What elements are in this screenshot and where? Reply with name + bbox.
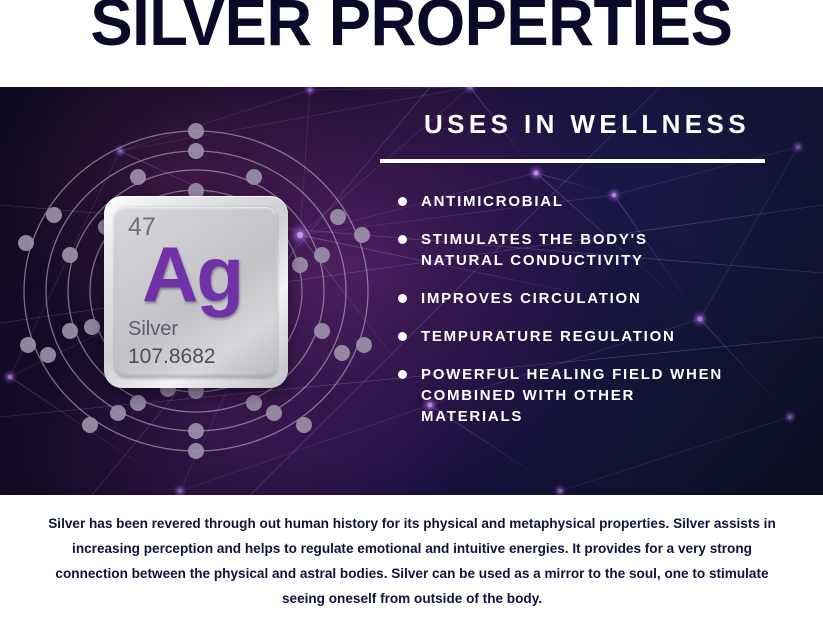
- bullet-icon: [398, 235, 407, 244]
- uses-list: ANTIMICROBIAL STIMULATES THE BODY'S NATU…: [380, 191, 800, 427]
- list-item: STIMULATES THE BODY'S NATURAL CONDUCTIVI…: [380, 229, 800, 271]
- bullet-icon: [398, 294, 407, 303]
- element-symbol: Ag: [115, 235, 269, 313]
- bullet-icon: [398, 370, 407, 379]
- description-paragraph: Silver has been revered through out huma…: [43, 511, 780, 611]
- list-item-label: IMPROVES CIRCULATION: [421, 288, 642, 309]
- infographic-poster: SILVER PROPERTIES: [0, 0, 823, 617]
- uses-section: USES IN WELLNESS ANTIMICROBIAL STIMULATE…: [380, 109, 800, 444]
- bullet-icon: [398, 332, 407, 341]
- list-item-label: TEMPURATURE REGULATION: [421, 326, 676, 347]
- uses-heading: USES IN WELLNESS: [380, 109, 800, 139]
- list-item: TEMPURATURE REGULATION: [380, 326, 800, 347]
- element-name: Silver: [128, 318, 178, 341]
- list-item-label: STIMULATES THE BODY'S NATURAL CONDUCTIVI…: [421, 229, 648, 271]
- list-item: ANTIMICROBIAL: [380, 191, 800, 212]
- footer-band: Silver has been revered through out huma…: [0, 495, 823, 617]
- title-band: SILVER PROPERTIES: [0, 0, 823, 87]
- atomic-mass: 107.8682: [128, 345, 216, 369]
- hero-panel: 47 Ag Silver 107.8682 USES IN WELLNESS A…: [0, 87, 823, 495]
- list-item-label: ANTIMICROBIAL: [421, 191, 564, 212]
- heading-underline: [380, 159, 765, 163]
- list-item: IMPROVES CIRCULATION: [380, 288, 800, 309]
- list-item-label: POWERFUL HEALING FIELD WHEN COMBINED WIT…: [421, 364, 723, 427]
- element-tile-face: 47 Ag Silver 107.8682: [115, 207, 277, 377]
- list-item: POWERFUL HEALING FIELD WHEN COMBINED WIT…: [380, 364, 800, 427]
- bullet-icon: [398, 197, 407, 206]
- element-tile: 47 Ag Silver 107.8682: [104, 196, 288, 388]
- page-title: SILVER PROPERTIES: [91, 0, 733, 55]
